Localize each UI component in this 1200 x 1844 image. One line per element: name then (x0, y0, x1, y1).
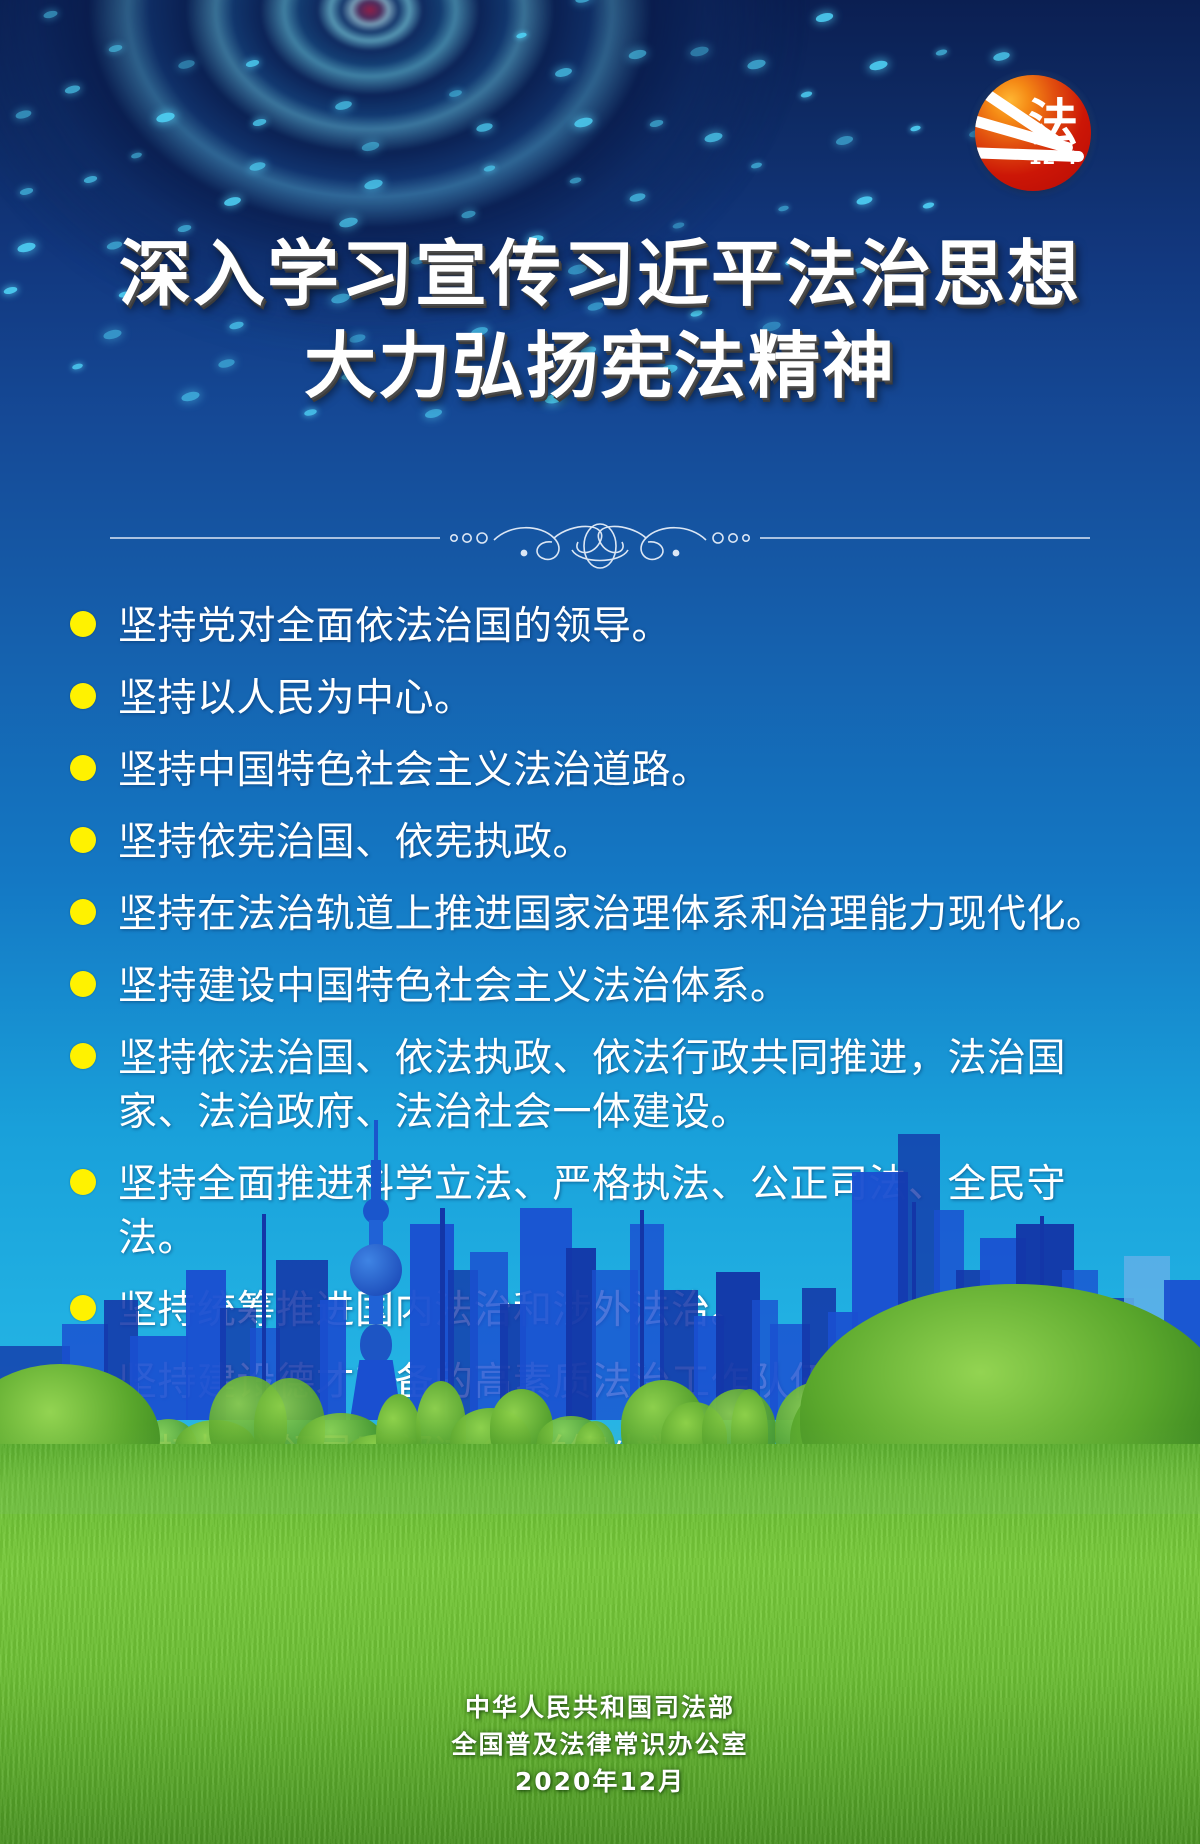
principle-item: 坚持依宪治国、依宪执政。 (70, 816, 1140, 870)
principle-text: 坚持以人民为中心。 (118, 672, 474, 726)
principle-item: 坚持在法治轨道上推进国家治理体系和治理能力现代化。 (70, 888, 1140, 942)
ceiling-lamp (475, 122, 493, 134)
principle-text: 坚持在法治轨道上推进国家治理体系和治理能力现代化。 (118, 888, 1106, 942)
ceiling-lamp (361, 140, 380, 152)
ceiling-lamp (569, 176, 582, 184)
emblem-logo[interactable]: 法 12·4 (975, 75, 1091, 191)
footer-line-1: 中华人民共和国司法部 (0, 1689, 1200, 1726)
title-line-2: 大力弘扬宪法精神 (0, 320, 1200, 412)
bullet-dot-icon (70, 827, 96, 853)
logo-date-label: 12·4 (1023, 147, 1083, 169)
ceiling-lamp (83, 175, 98, 184)
ceiling-lamp (43, 10, 58, 20)
bullet-dot-icon (70, 971, 96, 997)
ceiling-lamp (815, 11, 834, 23)
ceiling-lamp (628, 48, 647, 61)
tower-main-sphere (350, 1244, 402, 1296)
title-line-1: 深入学习宣传习近平法治思想 (119, 232, 1081, 316)
logo-disc: 法 12·4 (975, 75, 1091, 191)
ceiling-lamp (249, 161, 267, 172)
footer-line-3: 2020年12月 (0, 1763, 1200, 1800)
principle-item: 坚持中国特色社会主义法治道路。 (70, 744, 1140, 798)
ceiling-lamp (15, 109, 32, 120)
principle-text: 坚持建设中国特色社会主义法治体系。 (118, 960, 790, 1014)
ceiling-lamp (935, 48, 948, 56)
ceiling-lamp (778, 205, 790, 212)
ceiling-lamp (252, 118, 267, 128)
principle-text: 坚持依宪治国、依宪执政。 (118, 816, 592, 870)
ceiling-lamp (19, 187, 34, 196)
ceiling-lamp (223, 196, 242, 208)
poster-root: 法 12·4 深入学习宣传习近平法治思想 大力弘扬宪法精神 (0, 0, 1200, 1844)
poster-title: 深入学习宣传习近平法治思想 大力弘扬宪法精神 (0, 228, 1200, 412)
footer-credits: 中华人民共和国司法部 全国普及法律常识办公室 2020年12月 (0, 1689, 1200, 1800)
ceiling-lamp (704, 131, 724, 144)
tower-lower-sphere (360, 1324, 392, 1364)
ceiling-lamp (750, 162, 762, 170)
ceiling-lamp (245, 59, 260, 68)
ceiling-lamp (910, 125, 921, 132)
ceiling-lamp (516, 32, 527, 39)
ceiling-lamp (629, 192, 647, 203)
bullet-dot-icon (70, 683, 96, 709)
ceiling-lamp (64, 84, 81, 95)
ceiling-lamp (574, 0, 592, 4)
ceiling-lamp (130, 152, 142, 160)
ceiling-lamp (573, 116, 593, 129)
ornamental-divider (110, 520, 1090, 580)
ceiling-lamp (483, 164, 496, 172)
ceiling-lamp (363, 178, 383, 191)
bullet-dot-icon (70, 899, 96, 925)
ceiling-lamp (448, 89, 462, 98)
ceiling-lamp (155, 111, 175, 124)
ceiling-lamp (108, 44, 123, 54)
ceiling-lamp (746, 58, 766, 71)
ceiling-lamp (554, 67, 573, 79)
principle-text: 坚持党对全面依法治国的领导。 (118, 600, 671, 654)
ceiling-lamp (869, 59, 889, 72)
bullet-dot-icon (70, 1043, 96, 1069)
ceiling-lamp (835, 134, 854, 146)
ceiling-lamp (649, 119, 664, 129)
ceiling-lamp (856, 195, 874, 206)
bullet-dot-icon (70, 611, 96, 637)
logo-fa-character: 法 (1022, 99, 1084, 149)
ceiling-lamp (177, 59, 195, 71)
principle-item: 坚持以人民为中心。 (70, 672, 1140, 726)
bullet-dot-icon (70, 755, 96, 781)
principle-item: 坚持党对全面依法治国的领导。 (70, 600, 1140, 654)
principle-item: 坚持建设中国特色社会主义法治体系。 (70, 960, 1140, 1014)
grass-haze (0, 1424, 1200, 1514)
ceiling-lamp (800, 90, 813, 98)
ceiling-lamp (922, 201, 935, 209)
footer-line-2: 全国普及法律常识办公室 (0, 1726, 1200, 1763)
ceiling-lamp (334, 100, 353, 112)
ceiling-lamp (461, 209, 477, 219)
ceiling-lamp (689, 45, 709, 58)
principle-text: 坚持中国特色社会主义法治道路。 (118, 744, 711, 798)
